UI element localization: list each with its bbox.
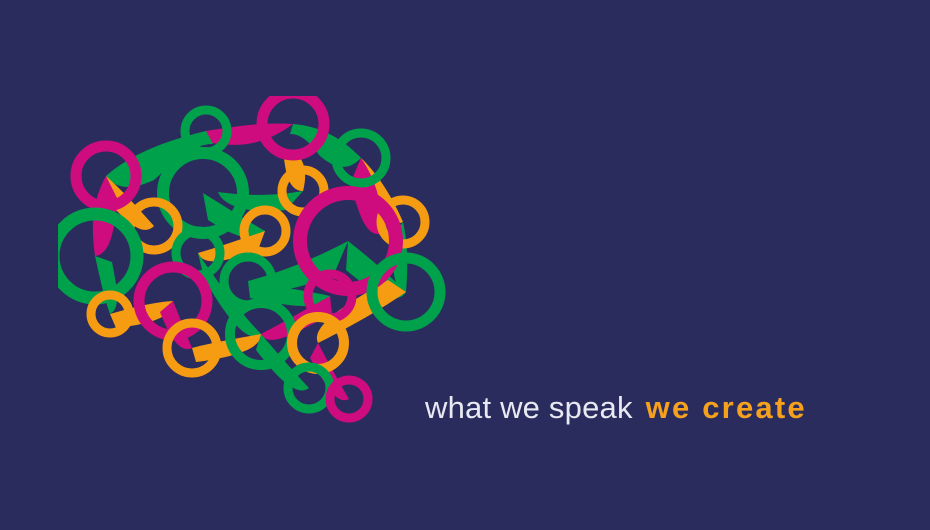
brain-network-svg [58, 96, 448, 446]
brain-network-logo [58, 96, 448, 446]
tagline: what we speak we create [425, 388, 807, 428]
tagline-light-text: what we speak [425, 390, 633, 426]
tagline-strong-text: we create [646, 390, 807, 426]
network-nodes [58, 96, 440, 418]
splash-canvas: what we speak we create [0, 0, 930, 530]
